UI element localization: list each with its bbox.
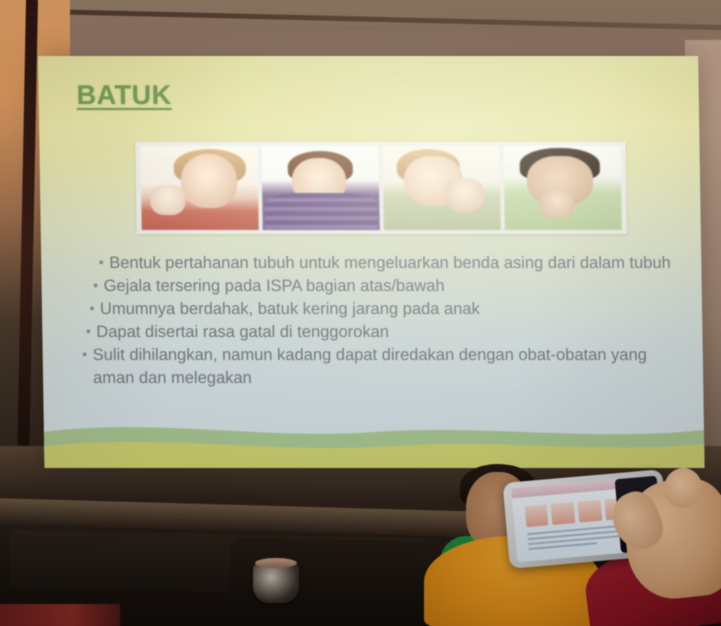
bullet-text: Bentuk pertahanan tubuh untuk mengeluark… <box>109 252 671 274</box>
bullet-dot-icon: • <box>80 321 96 341</box>
bullet-dot-icon: • <box>84 298 100 318</box>
slide-footer-wave <box>43 406 704 468</box>
photo-child-3 <box>382 146 500 230</box>
bullet-item: • Gejala tersering pada ISPA bagian atas… <box>87 275 671 297</box>
bullet-dot-icon: • <box>77 344 93 364</box>
wave-graphic <box>43 406 704 468</box>
photo-child-1 <box>140 146 258 230</box>
drinking-glass <box>253 563 299 603</box>
photo-strip <box>135 142 627 234</box>
bullet-item: • Dapat disertai rasa gatal di tenggorok… <box>80 321 672 343</box>
floor-red-object <box>0 604 120 626</box>
slide-bullet-list: • Bentuk pertahanan tubuh untuk mengelua… <box>71 252 673 390</box>
bullet-dot-icon: • <box>93 252 109 272</box>
bullet-text: Dapat disertai rasa gatal di tenggorokan <box>96 321 672 343</box>
bullet-text: Gejala tersering pada ISPA bagian atas/b… <box>103 275 671 297</box>
photo-child-2 <box>261 146 379 230</box>
bullet-dot-icon: • <box>87 275 103 295</box>
bullet-item: • Bentuk pertahanan tubuh untuk mengelua… <box>93 252 671 274</box>
phone-thumb <box>524 505 549 528</box>
phone-thumb <box>551 502 576 525</box>
slide-title: BATUK <box>76 80 171 111</box>
bullet-item: • Sulit dihilangkan, namun kadang dapat … <box>77 344 674 388</box>
bullet-text: Umumnya berdahak, batuk kering jarang pa… <box>100 298 672 320</box>
hand-holding-phone <box>612 470 721 610</box>
projection-screen: BATUK • Bentuk pertahanan tubuh <box>38 56 705 468</box>
bullet-text: Sulit dihilangkan, namun kadang dapat di… <box>93 344 674 388</box>
bullet-item: • Umumnya berdahak, batuk kering jarang … <box>84 298 672 320</box>
slide-surface: BATUK • Bentuk pertahanan tubuh <box>38 56 705 468</box>
phone-thumb <box>578 500 603 523</box>
photo-child-4 <box>503 146 621 230</box>
photographed-presentation-scene: BATUK • Bentuk pertahanan tubuh <box>0 0 721 626</box>
